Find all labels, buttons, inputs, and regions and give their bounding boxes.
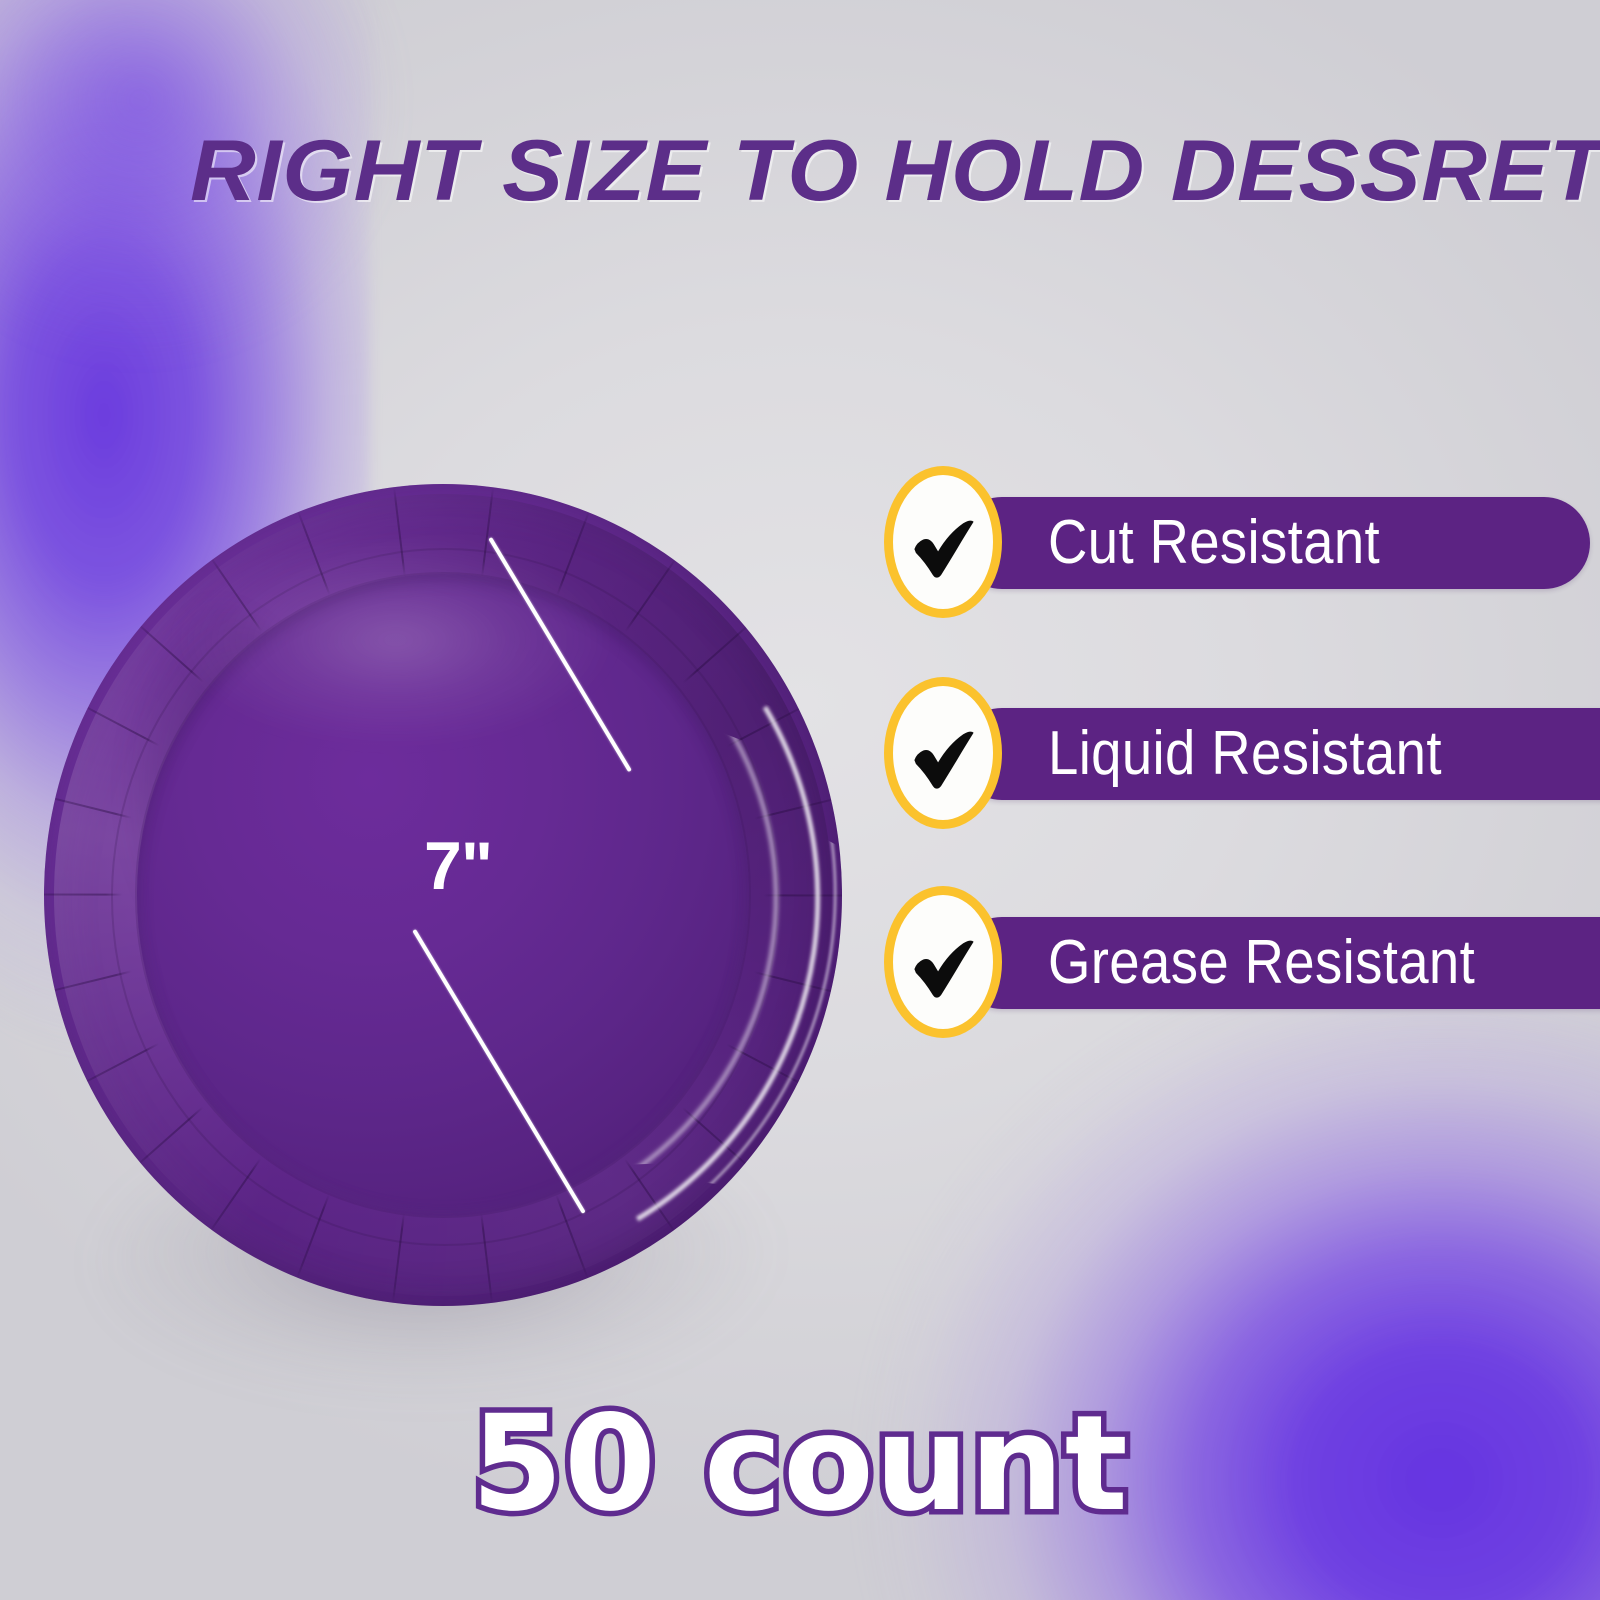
feature-label: Cut Resistant xyxy=(1048,512,1380,574)
pack-count-label: 50 count xyxy=(0,1398,1600,1530)
check-icon xyxy=(907,718,981,792)
feature-label: Liquid Resistant xyxy=(1048,723,1442,785)
check-icon-circle xyxy=(884,466,1002,618)
check-icon-circle xyxy=(884,886,1002,1038)
check-icon-circle xyxy=(884,677,1002,829)
plate-size-label: 7" xyxy=(424,832,492,900)
feature-pill: Cut Resistant xyxy=(956,497,1590,589)
feature-label: Grease Resistant xyxy=(1048,932,1475,994)
check-icon xyxy=(907,507,981,581)
page-title: RIGHT SIZE TO HOLD DESSRET xyxy=(190,128,1600,214)
feature-pill: Grease Resistant xyxy=(956,917,1600,1009)
check-icon xyxy=(907,927,981,1001)
feature-pill: Liquid Resistant xyxy=(956,708,1600,800)
product-feature-graphic: RIGHT SIZE TO HOLD DESSRET 7" Cut Resist… xyxy=(0,0,1600,1600)
